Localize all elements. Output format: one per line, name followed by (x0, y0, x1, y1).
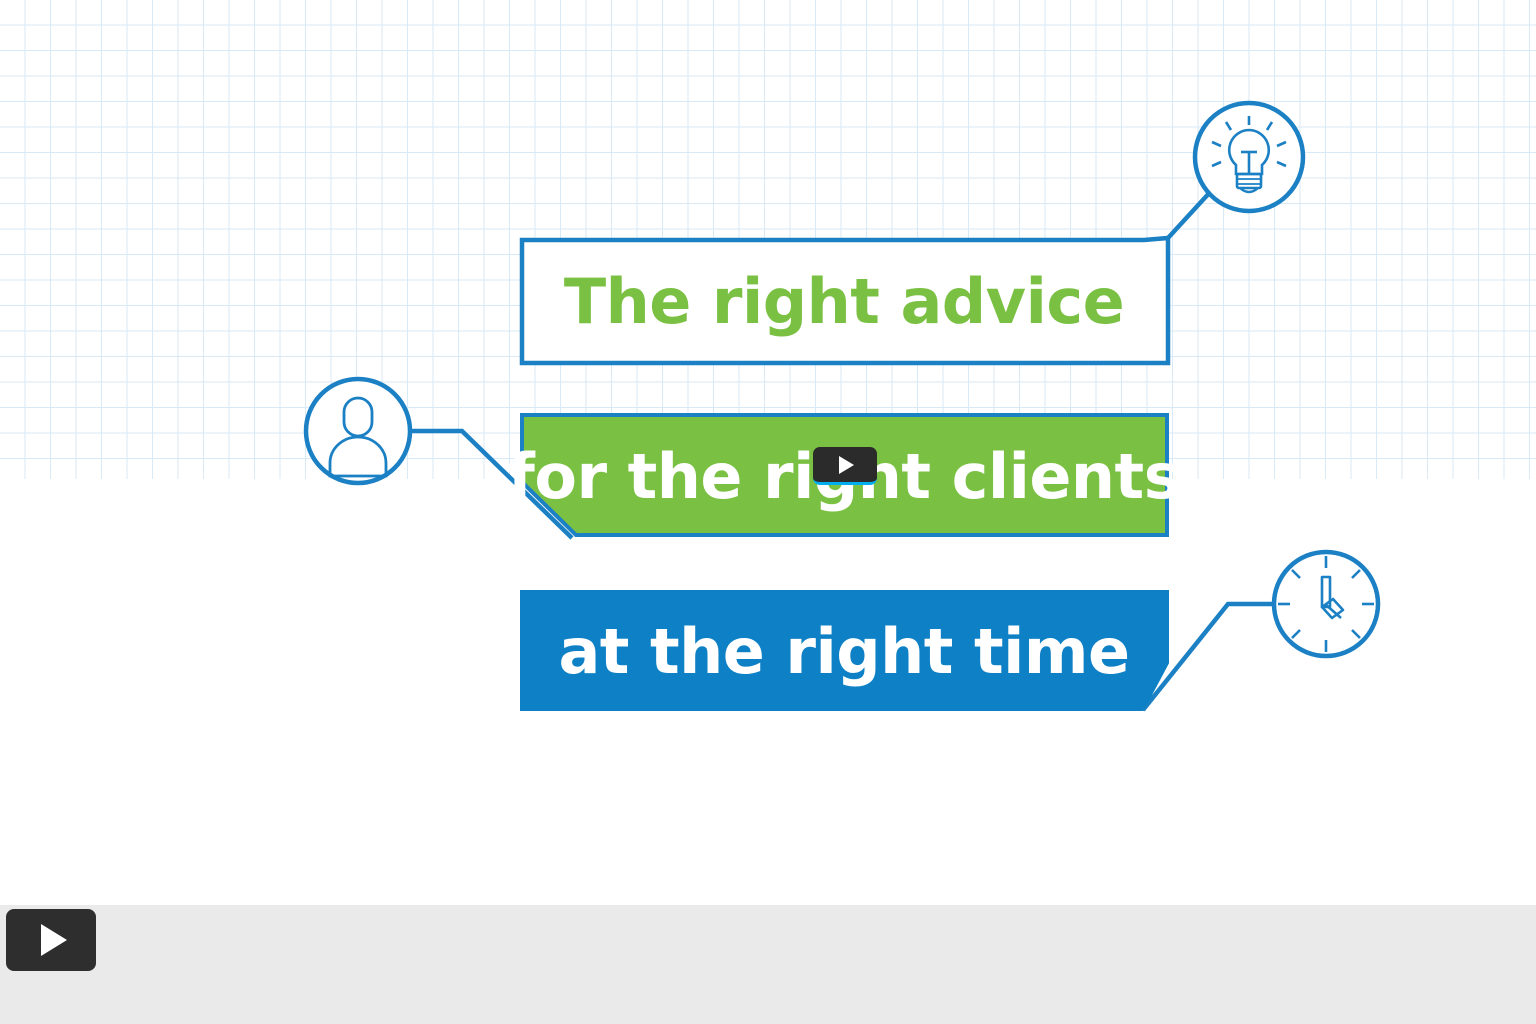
band-advice: The right advice (520, 238, 1168, 365)
center-play-button[interactable] (813, 447, 877, 485)
band-advice-label: The right advice (520, 238, 1168, 365)
connector-line-lightbulb (1168, 190, 1212, 238)
vimeo-video-player: The right advice for the right clients a… (0, 0, 1536, 1024)
player-control-bar: vimeo (0, 906, 1536, 974)
play-triangle-icon (41, 924, 67, 956)
play-button[interactable] (6, 909, 96, 971)
play-triangle-icon (839, 456, 854, 474)
band-time-label: at the right time (520, 590, 1168, 712)
clock-icon (1274, 552, 1378, 656)
video-stage[interactable]: The right advice for the right clients a… (0, 0, 1536, 905)
lightbulb-icon (1195, 103, 1303, 211)
person-icon (306, 379, 410, 483)
band-time: at the right time (520, 590, 1168, 712)
